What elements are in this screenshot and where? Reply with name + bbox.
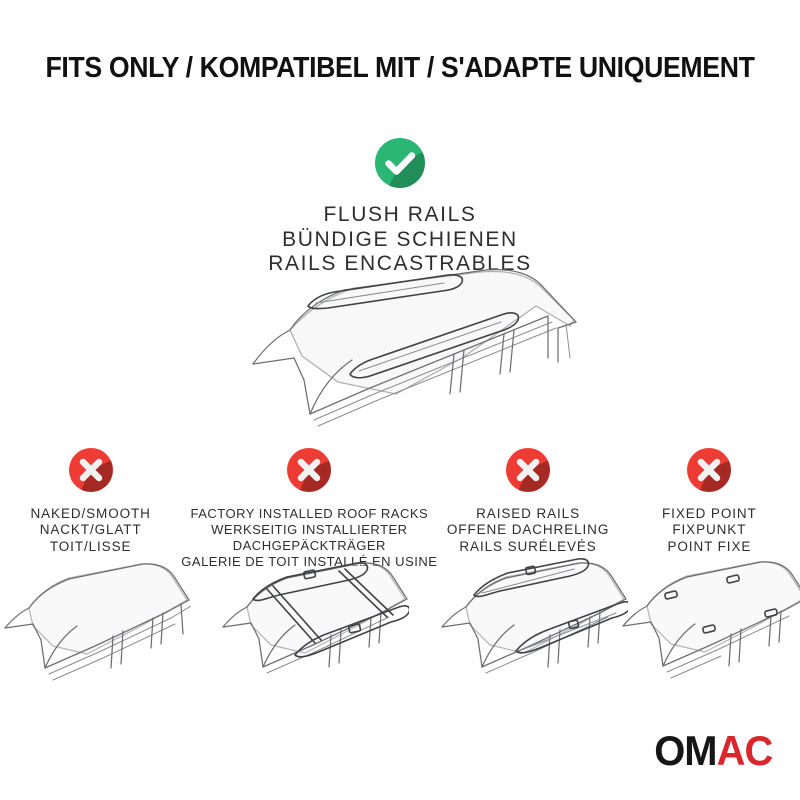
x-circle-icon — [506, 448, 550, 492]
compatible-section: FLUSH RAILS BÜNDIGE SCHIENEN RAILS ENCAS… — [0, 138, 800, 277]
option-raised-rails: RAISED RAILS OFFENE DACHRELING RAILS SUR… — [437, 448, 618, 698]
option-labels: RAISED RAILS OFFENE DACHRELING RAILS SUR… — [437, 506, 618, 555]
label-line: NAKED/SMOOTH — [0, 506, 181, 522]
option-fixed-point: FIXED POINT FIXPUNKT POINT FIXE — [619, 448, 800, 698]
x-circle-icon — [687, 448, 731, 492]
fitment-infographic: FITS ONLY / KOMPATIBEL MIT / S'ADAPTE UN… — [0, 0, 800, 800]
option-factory-roof-racks: FACTORY INSTALLED ROOF RACKS WERKSEITIG … — [181, 448, 437, 698]
car-roof-flush-rails-illustration — [218, 262, 598, 432]
label-line: FLUSH RAILS — [0, 203, 800, 228]
label-line: WERKSEITIG INSTALLIERTER — [181, 522, 437, 538]
car-roof-fixed-point-illustration — [609, 552, 800, 680]
option-labels: NAKED/SMOOTH NACKT/GLATT TOIT/LISSE — [0, 506, 181, 555]
option-naked-smooth: NAKED/SMOOTH NACKT/GLATT TOIT/LISSE — [0, 448, 181, 698]
logo-text-red: AC — [716, 727, 772, 774]
option-labels: FIXED POINT FIXPUNKT POINT FIXE — [619, 506, 800, 555]
x-circle-icon — [69, 448, 113, 492]
label-line: NACKT/GLATT — [0, 522, 181, 538]
car-roof-raised-rails-illustration — [428, 551, 628, 679]
page-title: FITS ONLY / KOMPATIBEL MIT / S'ADAPTE UN… — [32, 52, 768, 85]
label-line: FIXED POINT — [619, 506, 800, 522]
incompatible-section: NAKED/SMOOTH NACKT/GLATT TOIT/LISSE — [0, 448, 800, 698]
check-circle-icon — [375, 138, 425, 188]
logo-text-dark: OM — [654, 727, 716, 774]
x-circle-icon — [287, 448, 331, 492]
label-line: FIXPUNKT — [619, 522, 800, 538]
label-line: OFFENE DACHRELING — [437, 522, 618, 538]
label-line: TOIT/LISSE — [0, 539, 181, 555]
car-roof-bare-illustration — [0, 556, 191, 684]
label-line: FACTORY INSTALLED ROOF RACKS — [181, 506, 437, 522]
omac-logo: OMAC — [654, 730, 772, 772]
car-roof-factory-crossbars-illustration — [209, 551, 409, 679]
label-line: RAISED RAILS — [437, 506, 618, 522]
label-line: BÜNDIGE SCHIENEN — [0, 228, 800, 253]
